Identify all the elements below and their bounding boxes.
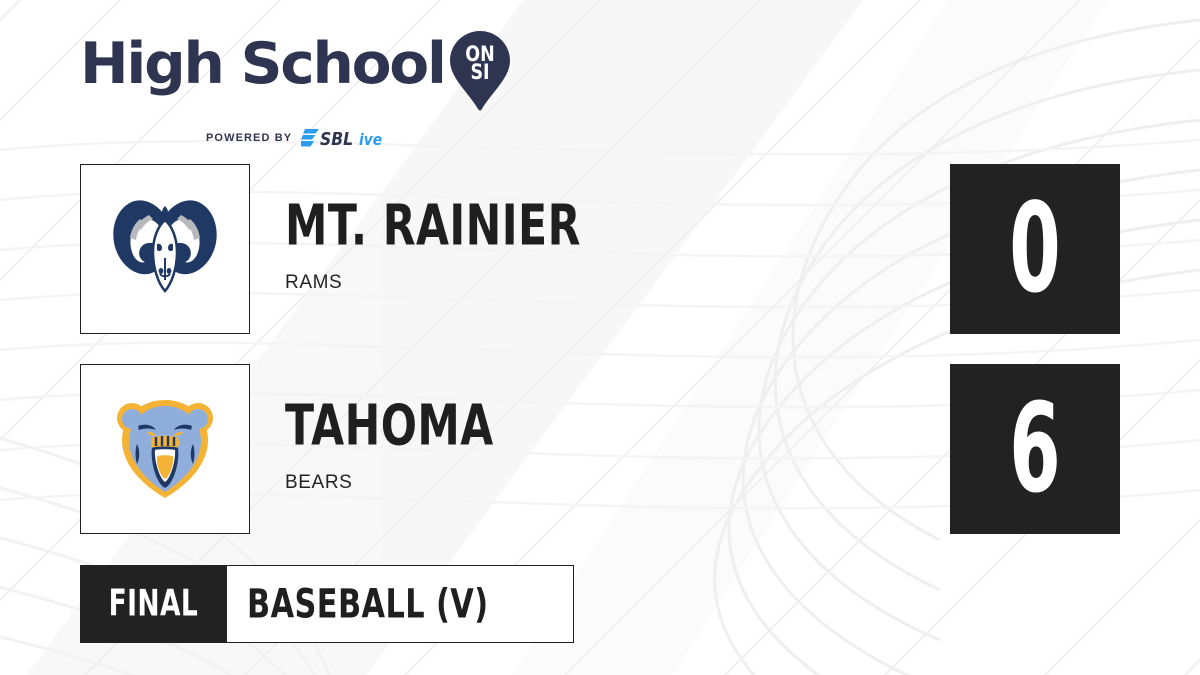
brand-logo: High School ON SI POWERED BY SBL: [80, 36, 511, 148]
bear-head-logo: [104, 388, 226, 510]
sblive-s-mark: [301, 129, 319, 147]
brand-wordmark: High School: [80, 36, 445, 93]
team-logo-card: [80, 364, 250, 534]
game-status-label: FINAL: [109, 583, 199, 625]
team-logo-card: [80, 164, 250, 334]
team-name: MT. RAINIER: [285, 198, 581, 254]
game-status-bar: FINAL BASEBALL (V): [80, 565, 574, 643]
ram-head-logo: [104, 188, 226, 310]
on-si-pin-icon: ON SI: [449, 31, 511, 116]
svg-text:SI: SI: [470, 59, 489, 84]
team-score: 6: [1009, 387, 1060, 510]
team-mascot: BEARS: [285, 472, 539, 494]
powered-by-label: POWERED BY: [206, 132, 292, 144]
team-score-box: 6: [950, 364, 1120, 534]
game-status-badge: FINAL: [80, 565, 227, 643]
team-mascot: RAMS: [285, 272, 646, 294]
team-score: 0: [1009, 187, 1060, 310]
svg-text:ive: ive: [359, 131, 382, 148]
team-score-box: 0: [950, 164, 1120, 334]
team-text: MT. RAINIER RAMS: [285, 200, 646, 294]
svg-text:SBL: SBL: [320, 128, 353, 148]
team-name: TAHOMA: [285, 398, 494, 454]
team-text: TAHOMA BEARS: [285, 400, 539, 494]
sport-label-box: BASEBALL (V): [227, 565, 574, 643]
sblive-logo: SBL ive: [301, 128, 401, 148]
sport-label: BASEBALL (V): [247, 581, 489, 627]
